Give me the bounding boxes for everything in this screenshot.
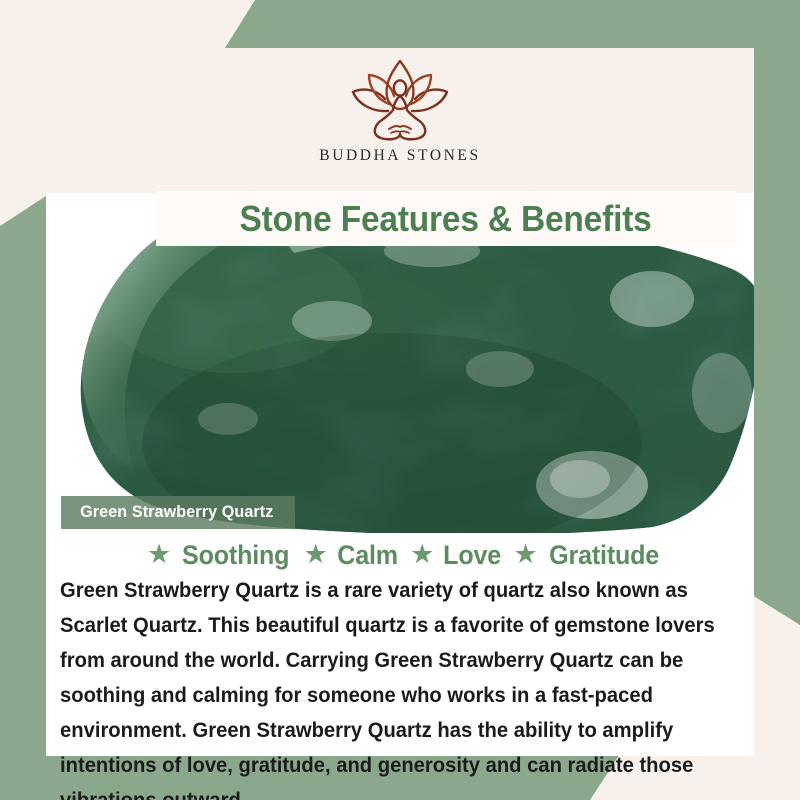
- feature-item: ★ Calm: [294, 540, 400, 571]
- description-text: Green Strawberry Quartz is a rare variet…: [60, 573, 724, 800]
- photo-caption-label: Green Strawberry Quartz: [80, 502, 273, 522]
- decor-right-green-strip: [752, 0, 800, 625]
- star-icon: ★: [304, 541, 328, 568]
- feature-label: Calm: [337, 540, 398, 571]
- photo-caption-band: Green Strawberry Quartz: [61, 496, 295, 529]
- lotus-meditation-icon: [344, 54, 456, 146]
- brand-block: BUDDHA STONES: [46, 54, 754, 165]
- feature-label: Gratitude: [549, 540, 659, 571]
- header: BUDDHA STONES: [46, 48, 754, 193]
- infographic-root: BUDDHA STONES: [0, 0, 800, 800]
- feature-item: ★ Gratitude: [504, 540, 663, 571]
- feature-label: Love: [443, 540, 501, 571]
- feature-label: Soothing: [182, 540, 289, 571]
- brand-name: BUDDHA STONES: [319, 147, 480, 165]
- title-banner: Stone Features & Benefits: [156, 191, 736, 246]
- star-icon: ★: [514, 541, 538, 568]
- decor-top-green-band: [225, 0, 800, 48]
- description-block: Green Strawberry Quartz is a rare variet…: [34, 573, 776, 800]
- feature-item: ★ Love: [400, 540, 503, 571]
- features-row: ★ Soothing ★ Calm ★ Love ★ Gratitude: [46, 540, 754, 571]
- star-icon: ★: [410, 541, 434, 568]
- content-card: BUDDHA STONES: [46, 48, 754, 756]
- star-icon: ★: [147, 541, 171, 568]
- page-title: Stone Features & Benefits: [240, 198, 652, 240]
- feature-item: ★ Soothing: [137, 540, 294, 571]
